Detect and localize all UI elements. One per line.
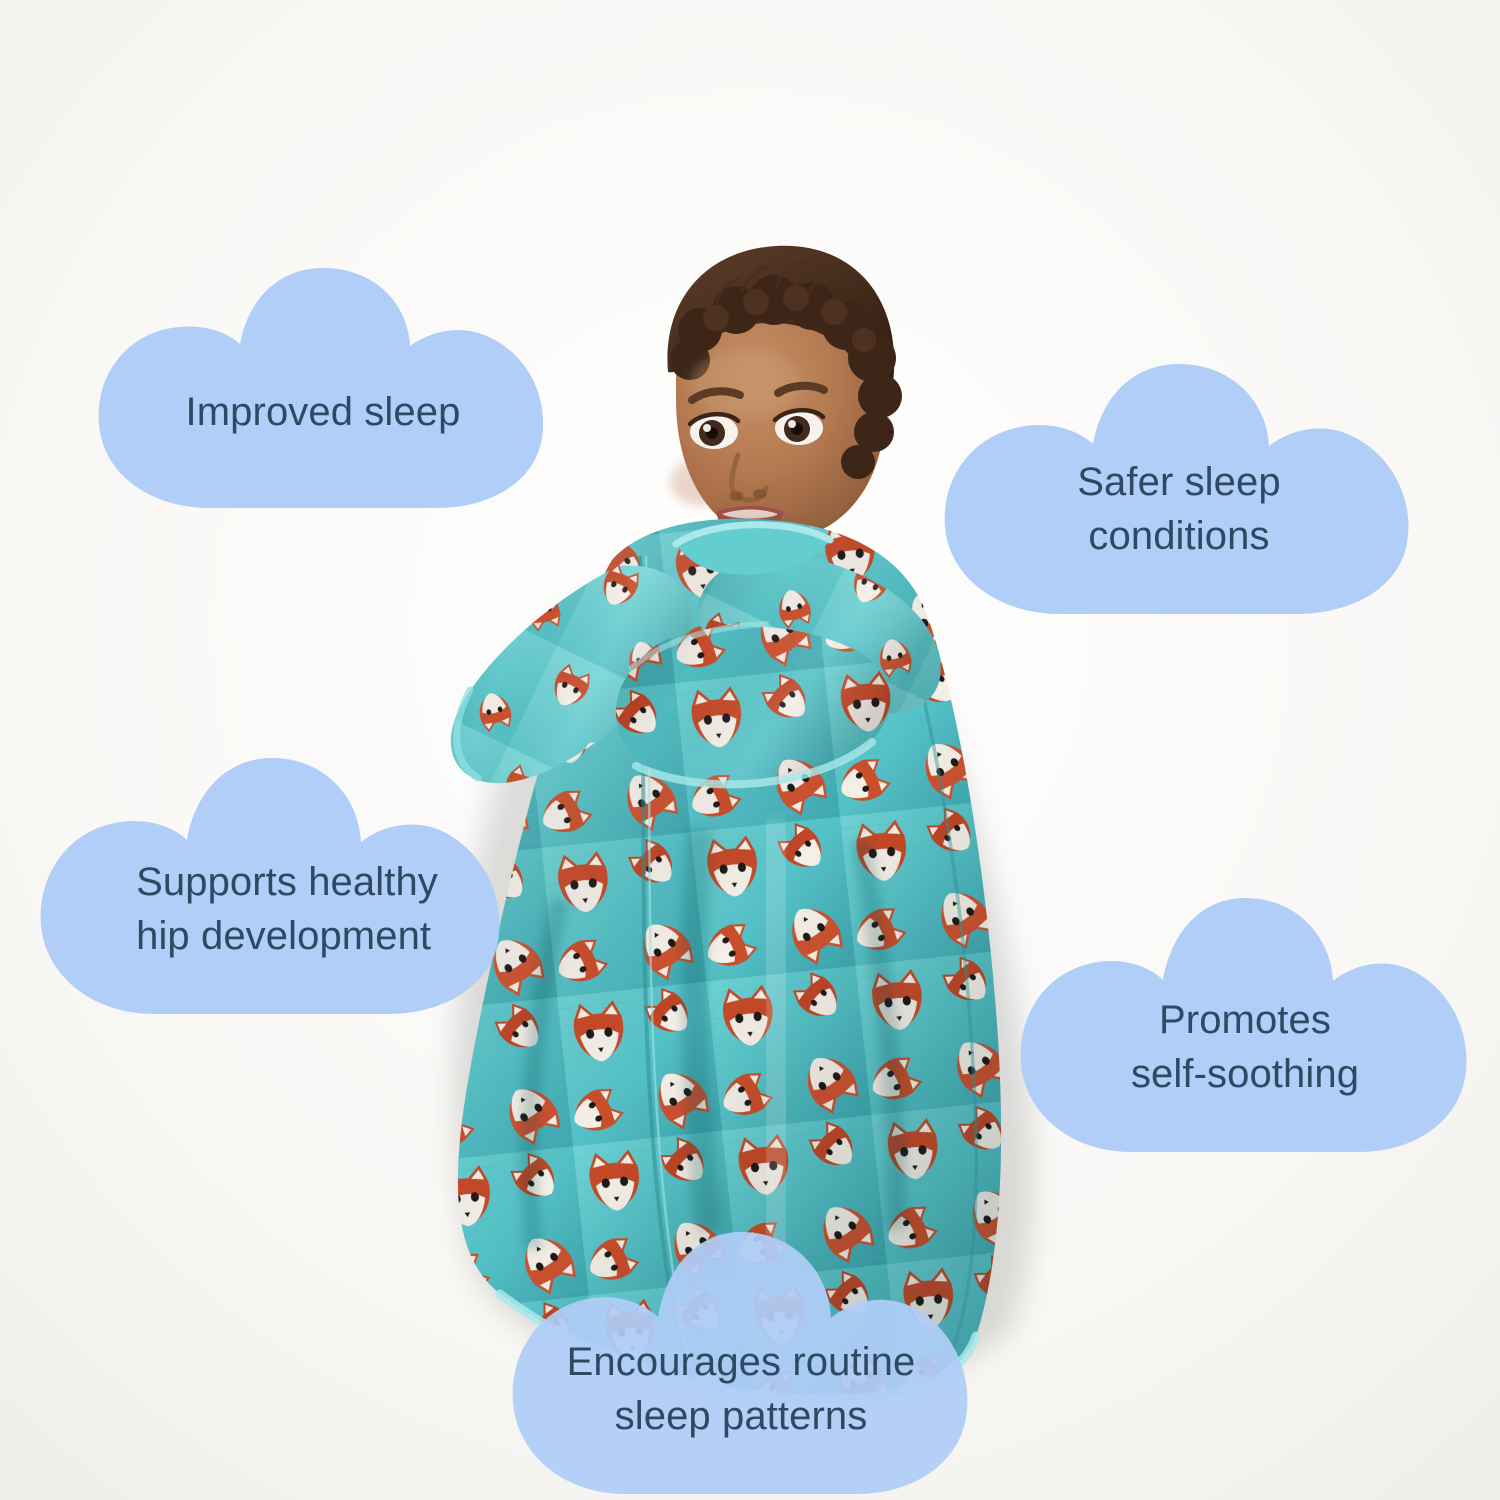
cloud-shape-icon [1014,892,1476,1158]
benefit-cloud-safer-sleep[interactable]: Safer sleep conditions [938,358,1420,620]
benefit-cloud-improved-sleep[interactable]: Improved sleep [92,262,554,514]
cloud-shape-icon [34,752,510,1020]
benefit-cloud-hip-development[interactable]: Supports healthy hip development [34,752,510,1020]
benefit-cloud-self-soothing[interactable]: Promotes self-soothing [1014,892,1476,1158]
benefit-cloud-sleep-patterns[interactable]: Encourages routine sleep patterns [506,1226,976,1500]
cloud-shape-icon [506,1226,976,1500]
cloud-shape-icon [92,262,554,514]
cloud-shape-icon [938,358,1420,620]
infographic-canvas: The benefits of swaddle transition [0,0,1500,1500]
